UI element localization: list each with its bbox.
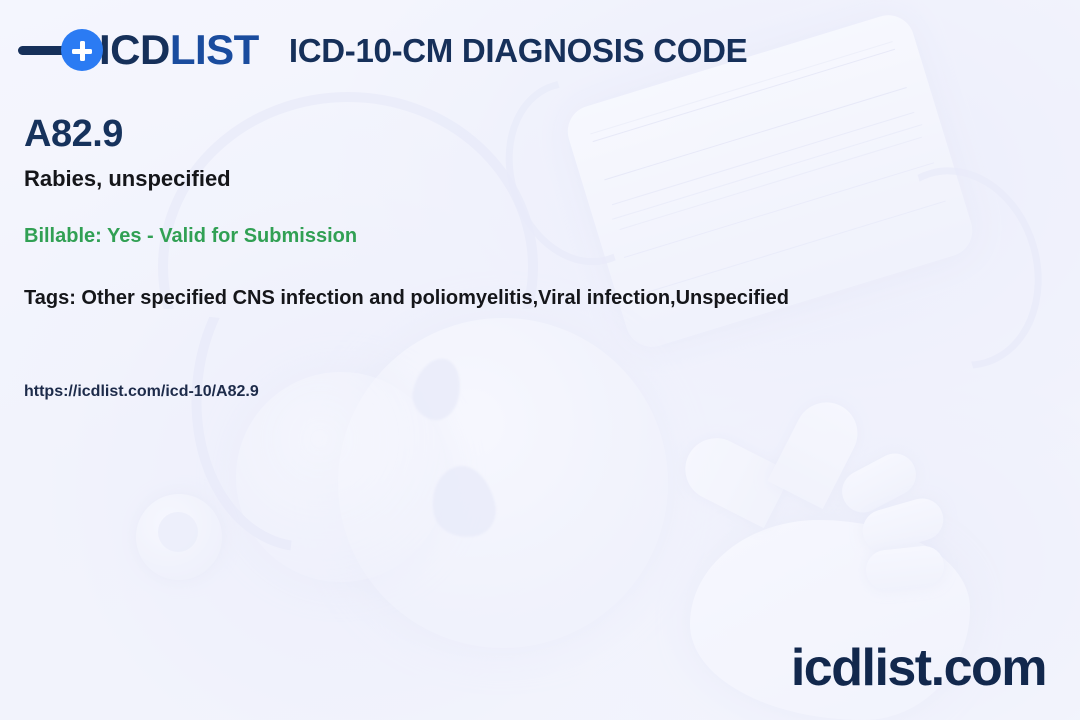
medical-plus-icon [61,29,103,71]
billable-status: Billable: Yes - Valid for Submission [24,224,357,248]
card-content: ICDLIST ICD-10-CM DIAGNOSIS CODE A82.9 R… [0,0,1080,720]
card-header: ICDLIST ICD-10-CM DIAGNOSIS CODE [0,0,1080,100]
diagnosis-code: A82.9 [24,114,123,156]
tags-line: Tags: Other specified CNS infection and … [24,286,789,310]
logo-wordmark: ICDLIST [99,29,259,71]
page-title: ICD-10-CM DIAGNOSIS CODE [289,34,748,67]
logo-word-icd: ICD [99,26,170,73]
source-url[interactable]: https://icdlist.com/icd-10/A82.9 [24,382,259,401]
diagnosis-description: Rabies, unspecified [24,166,231,192]
icd-code-card: ICDLIST ICD-10-CM DIAGNOSIS CODE A82.9 R… [0,0,1080,720]
logo-word-list: LIST [170,26,259,73]
site-watermark: icdlist.com [791,642,1046,694]
icdlist-logo[interactable]: ICDLIST [18,29,259,71]
